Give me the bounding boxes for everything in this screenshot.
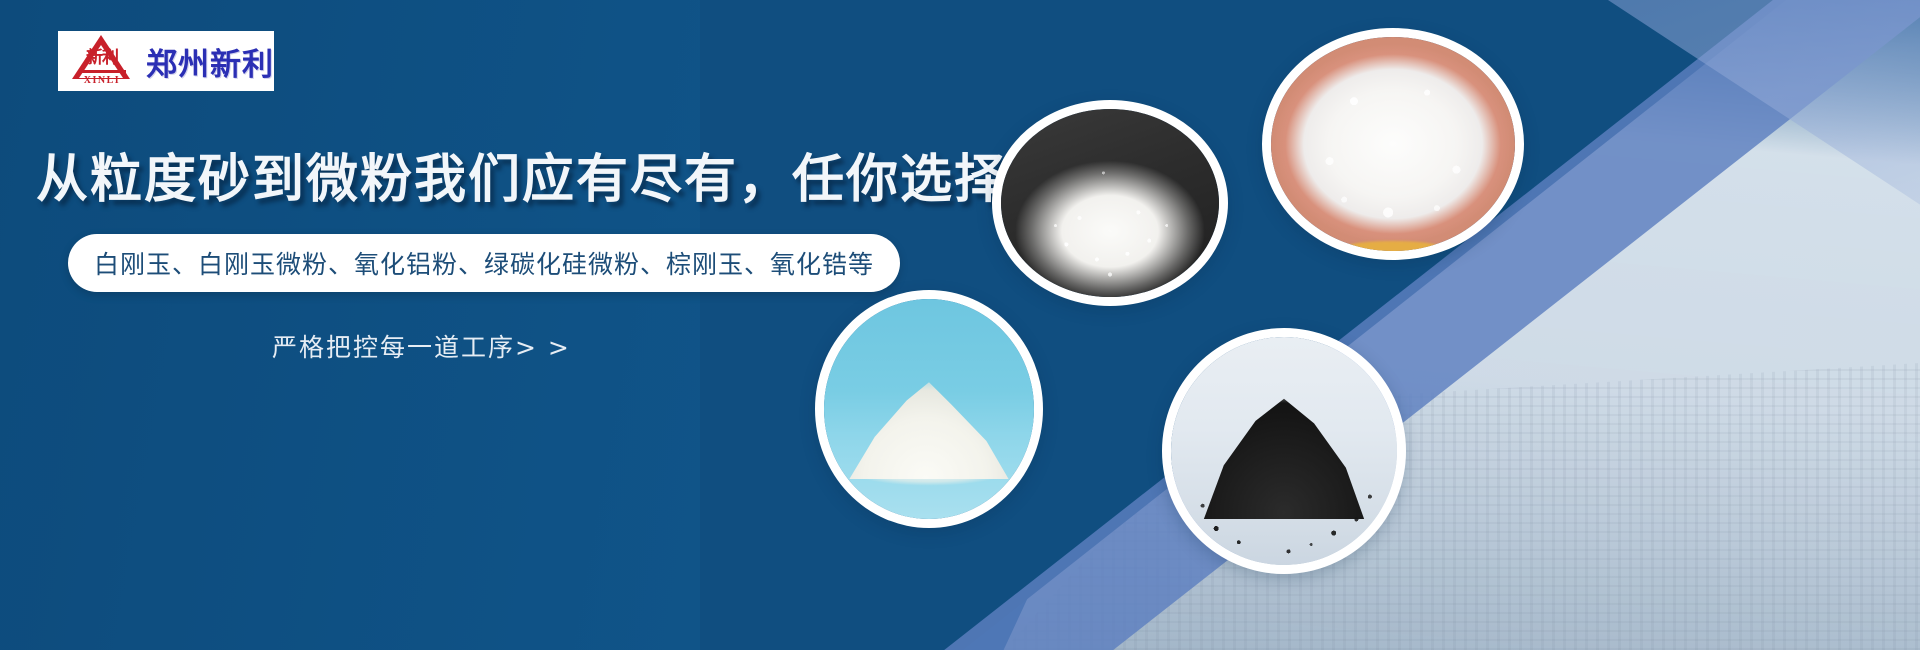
product-photo-black-silicon-carbide[interactable] [1162,328,1406,574]
product-photo-white-fused-alumina-image [1001,109,1219,297]
product-photo-white-fused-alumina[interactable] [992,100,1228,306]
process-quality-cta[interactable]: 严格把控每一道工序> > [272,328,571,364]
tray-rim-highlight [1344,241,1442,255]
product-photo-black-silicon-carbide-image [1171,337,1397,565]
logo-mark-cn-text: 新利 [70,50,134,67]
triangle-logo-icon: 新利 XINLI [66,33,136,89]
powder-cone-shape [849,378,1009,479]
product-photo-white-powder-cone-image [824,299,1034,519]
logo-mark-en-text: XINLI [70,75,134,86]
company-logo[interactable]: 新利 XINLI 郑州新利 [58,31,274,91]
company-name-text: 郑州新利 [146,39,274,84]
powder-texture [1271,37,1515,251]
granule-texture [1001,109,1219,297]
product-list-pill[interactable]: 白刚玉、白刚玉微粉、氧化铝粉、绿碳化硅微粉、棕刚玉、氧化锆等 [68,234,900,292]
product-list-text: 白刚玉、白刚玉微粉、氧化铝粉、绿碳化硅微粉、棕刚玉、氧化锆等 [94,245,874,281]
product-photo-alumina-powder[interactable] [1262,28,1524,260]
banner-headline: 从粒度砂到微粉我们应有尽有，任你选择 [36,137,1008,212]
promo-banner: 新利 XINLI 郑州新利 从粒度砂到微粉我们应有尽有，任你选择 白刚玉、白刚玉… [0,0,1920,650]
product-photo-white-powder-cone[interactable] [815,290,1043,528]
logo-underline [78,70,126,73]
product-photo-alumina-powder-image [1271,37,1515,251]
black-granule-texture [1171,337,1397,565]
